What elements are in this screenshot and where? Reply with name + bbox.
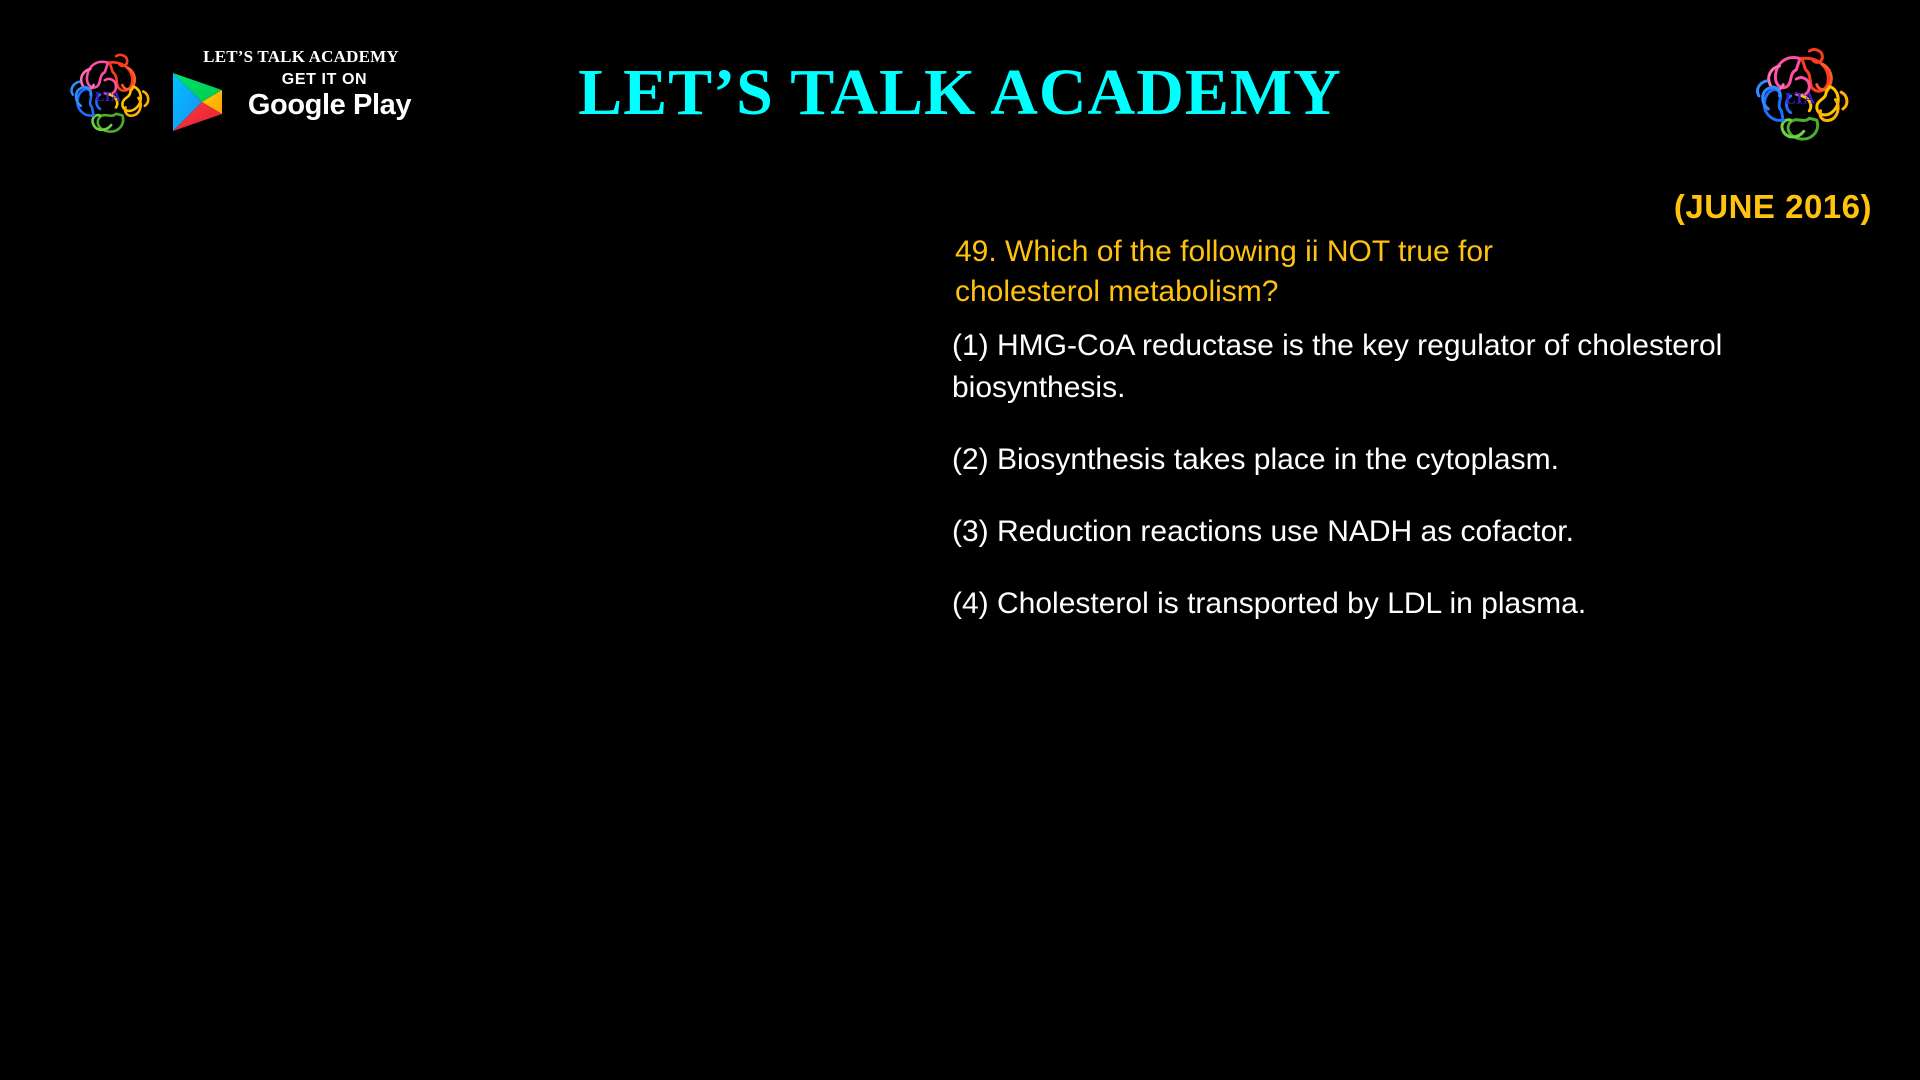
question-text: 49. Which of the following ii NOT true f… bbox=[955, 232, 1575, 312]
answer-option-2[interactable]: (2) Biosynthesis takes place in the cyto… bbox=[952, 439, 1832, 481]
answer-option-3[interactable]: (3) Reduction reactions use NADH as cofa… bbox=[952, 511, 1832, 553]
protein-ribbon-logo-right: LTA bbox=[1740, 38, 1860, 150]
brand-right-cluster: LTA bbox=[1740, 38, 1860, 150]
answer-option-1[interactable]: (1) HMG-CoA reductase is the key regulat… bbox=[952, 325, 1822, 409]
question-block: 49. Which of the following ii NOT true f… bbox=[955, 232, 1835, 312]
protein-logo-label-right: LTA bbox=[1785, 90, 1816, 107]
exam-session-badge: (JUNE 2016) bbox=[1674, 188, 1872, 226]
page-title: LET’S TALK ACADEMY bbox=[0, 56, 1920, 130]
answer-option-4[interactable]: (4) Cholesterol is transported by LDL in… bbox=[952, 583, 1832, 625]
slide-header: LTA bbox=[0, 0, 1920, 180]
answer-options-list: (1) HMG-CoA reductase is the key regulat… bbox=[952, 325, 1852, 625]
